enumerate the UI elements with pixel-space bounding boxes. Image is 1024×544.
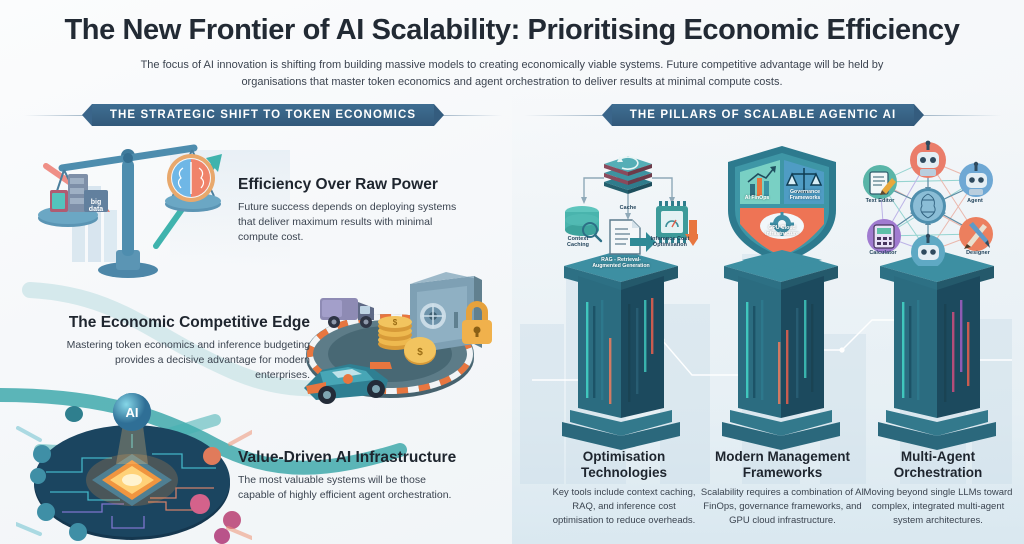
pillar-1-inference-cost-label: Inference Cost Optimisation <box>644 236 696 248</box>
infographic-canvas: The New Frontier of AI Scalability: Prio… <box>0 0 1024 544</box>
left-block-1: Efficiency Over Raw Power Future success… <box>238 176 468 245</box>
pillar-2-caption: Modern Management Frameworks Scalability… <box>700 449 865 528</box>
pillar-1-rag-label: RAG - Retrieval-Augmented Generation <box>590 258 652 270</box>
pillar-3-column <box>872 250 1002 450</box>
svg-text:$: $ <box>393 318 398 327</box>
page-title: The New Frontier of AI Scalability: Prio… <box>0 14 1024 47</box>
pillar-1-body: Key tools include context caching, RAQ, … <box>548 486 700 527</box>
pillar-3-text-editor-label: Text Editor <box>860 198 900 204</box>
svg-text:big: big <box>91 199 102 206</box>
pillar-2-governance-label: Governance Frameworks <box>782 190 828 202</box>
pillar-1-context-caching-label: Context Caching <box>558 236 598 248</box>
pillar-1-cache-label: Cache <box>608 205 648 211</box>
left-block-3: Value-Driven AI Infrastructure The most … <box>238 449 458 503</box>
pillar-3-designer-label: Designer <box>958 250 998 256</box>
rule-left-2 <box>524 115 612 116</box>
pillar-1-column <box>556 250 686 450</box>
ai-circuit-board-illustration: AI <box>16 388 252 544</box>
left-block-3-heading: Value-Driven AI Infrastructure <box>238 449 458 468</box>
pillar-2-column <box>716 250 846 450</box>
right-section-header: THE PILLARS OF SCALABLE AGENTIC AI <box>524 104 1002 126</box>
pillar-2-ai-finops-label: AI FinOps <box>736 196 778 202</box>
header: The New Frontier of AI Scalability: Prio… <box>0 14 1024 91</box>
svg-text:$: $ <box>417 347 423 358</box>
pillar-3-calculator-label: Calculator <box>862 250 904 256</box>
pillar-2-gpu-cloud-label: GPU Cloud Infrastructure <box>758 226 806 238</box>
right-banner-label: THE PILLARS OF SCALABLE AGENTIC AI <box>612 104 915 126</box>
pillar-2-heading: Modern Management Frameworks <box>700 449 865 481</box>
pillar-3-caption: Multi-Agent Orchestration Moving beyond … <box>862 449 1014 528</box>
rule-right-2 <box>914 115 1002 116</box>
left-block-1-heading: Efficiency Over Raw Power <box>238 176 468 195</box>
left-block-1-body: Future success depends on deploying syst… <box>238 200 468 246</box>
balance-scale-illustration: big data <box>28 138 244 288</box>
pillar-2-body: Scalability requires a combination of AI… <box>700 486 865 527</box>
left-block-2: The Economic Competitive Edge Mastering … <box>60 314 310 383</box>
svg-text:AI: AI <box>126 405 139 420</box>
rule-right <box>434 115 502 116</box>
pillar-2-shield-diagram <box>712 140 852 270</box>
left-block-2-heading: The Economic Competitive Edge <box>60 314 310 333</box>
pillar-1-caption: Optimisation Technologies Key tools incl… <box>548 449 700 528</box>
racetrack-vault-illustration: $ $ <box>286 262 506 410</box>
pillar-3-agent-label: Agent <box>958 198 992 204</box>
pillar-1-heading: Optimisation Technologies <box>548 449 700 481</box>
left-block-2-body: Mastering token economics and inference … <box>60 338 310 384</box>
svg-text:data: data <box>89 206 104 213</box>
page-subtitle: The focus of AI innovation is shifting f… <box>112 57 912 91</box>
pillar-3-body: Moving beyond single LLMs toward complex… <box>862 486 1014 527</box>
pillar-3-heading: Multi-Agent Orchestration <box>862 449 1014 481</box>
left-block-3-body: The most valuable systems will be those … <box>238 473 458 503</box>
